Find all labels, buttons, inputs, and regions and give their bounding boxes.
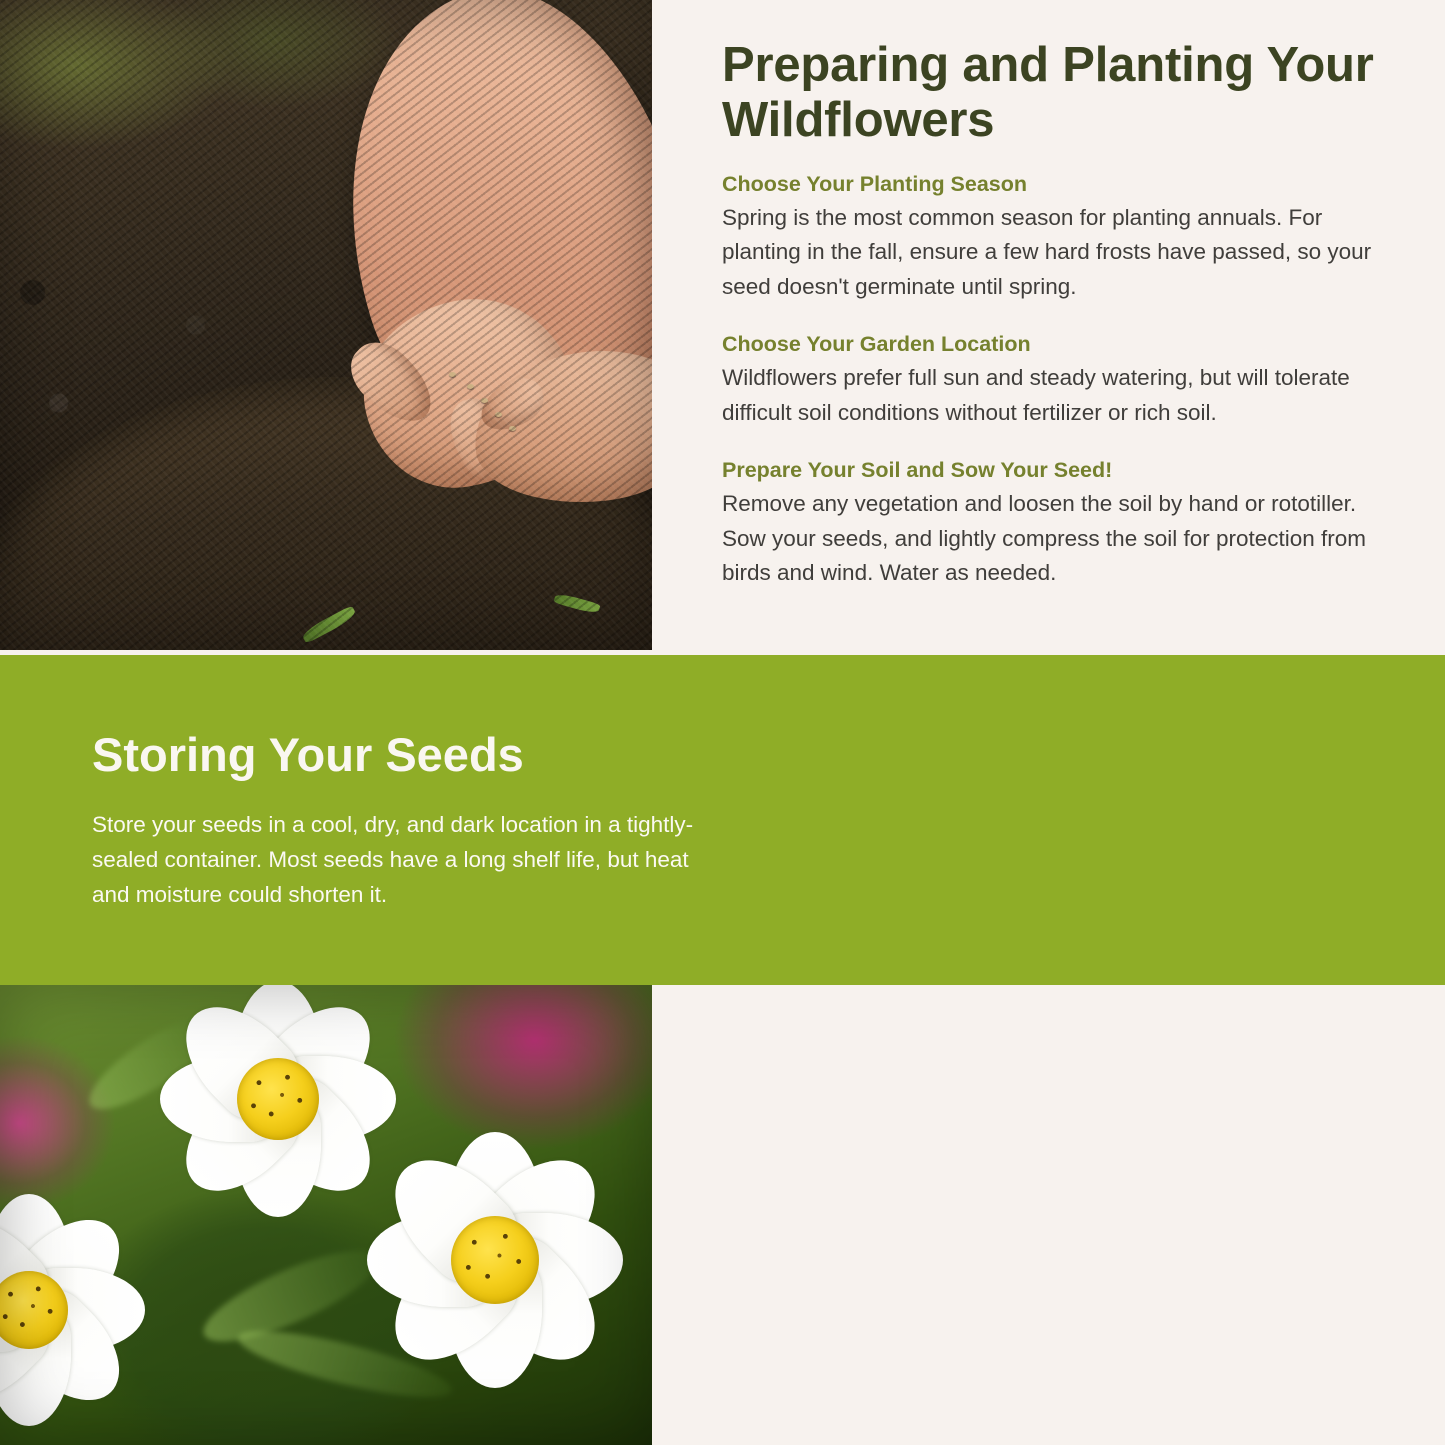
section-preparing-and-planting: Preparing and Planting Your Wildflowers …	[0, 0, 1445, 655]
photo-white-cosmos-flowers	[0, 985, 652, 1445]
body-planting-season: Spring is the most common season for pla…	[722, 201, 1394, 306]
section-one-title: Preparing and Planting Your Wildflowers	[722, 38, 1394, 149]
section-two-title: Storing Your Seeds	[92, 729, 732, 781]
flower-center-disc	[237, 1058, 319, 1140]
infographic-page: Preparing and Planting Your Wildflowers …	[0, 0, 1445, 1445]
body-storing-seeds: Store your seeds in a cool, dry, and dar…	[92, 807, 732, 912]
subheading-prepare-soil: Prepare Your Soil and Sow Your Seed!	[722, 457, 1394, 484]
body-prepare-soil: Remove any vegetation and loosen the soi…	[722, 487, 1394, 592]
soil-grain-texture	[0, 0, 652, 650]
body-garden-location: Wildflowers prefer full sun and steady w…	[722, 361, 1394, 431]
section-storing-your-seeds: Storing Your Seeds Store your seeds in a…	[0, 655, 1445, 985]
subheading-garden-location: Choose Your Garden Location	[722, 331, 1394, 358]
preparing-text-column: Preparing and Planting Your Wildflowers …	[722, 38, 1394, 591]
photo-hands-sowing-seeds	[0, 0, 652, 650]
flower-center-disc	[451, 1216, 539, 1304]
cosmos-bloom	[330, 1095, 652, 1425]
subheading-planting-season: Choose Your Planting Season	[722, 171, 1394, 198]
section-what-to-expect: What to Expect When Planting Annuals Ann…	[0, 985, 1445, 1445]
storing-text-column: Storing Your Seeds Store your seeds in a…	[92, 729, 732, 912]
